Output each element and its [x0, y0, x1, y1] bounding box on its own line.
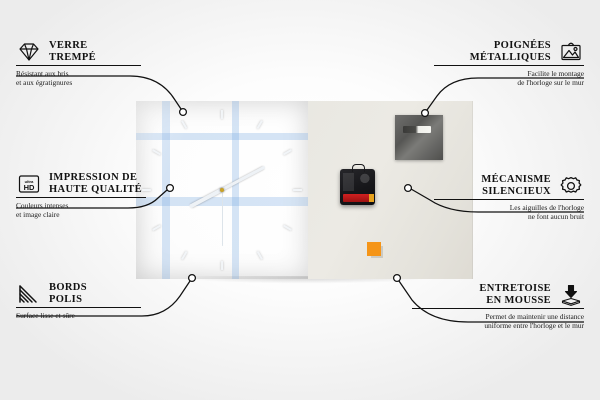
feature-title: BORDS POLIS — [49, 282, 87, 305]
feature-entretoise-en-mousse: ENTRETOISE EN MOUSSE Permet de maintenir… — [412, 283, 584, 330]
ultra-hd-icon: ultra HD — [16, 173, 42, 195]
feature-rule — [16, 65, 141, 66]
feature-subtitle: Permet de maintenir une distance uniform… — [412, 312, 584, 330]
quartz-movement — [340, 169, 375, 205]
diamond-icon — [16, 41, 42, 63]
hour-hand — [189, 188, 222, 208]
product-image — [136, 101, 473, 279]
feature-poignees-metalliques: POIGNÉES MÉTALLIQUES Facilite le montage… — [434, 40, 584, 87]
feature-mecanisme-silencieux: MÉCANISME SILENCIEUX Les aiguilles de l'… — [434, 174, 584, 221]
second-hand — [222, 190, 223, 246]
feature-subtitle: Les aiguilles de l'horloge ne font aucun… — [434, 203, 584, 221]
foam-spacer — [367, 242, 381, 256]
feature-rule — [16, 307, 141, 308]
movement-detail — [343, 173, 371, 191]
battery-terminal — [369, 194, 374, 202]
feature-title: MÉCANISME SILENCIEUX — [481, 174, 551, 197]
feature-verre-trempe: VERRE TREMPÉ Résistant aux bris et aux é… — [16, 40, 156, 87]
polished-edge-icon — [16, 283, 42, 305]
feature-title: POIGNÉES MÉTALLIQUES — [470, 40, 551, 63]
minute-hand — [221, 166, 266, 192]
feature-bords-polis: BORDS POLIS Surface lisse et sûre — [16, 282, 156, 320]
svg-text:HD: HD — [24, 183, 35, 192]
feature-title: VERRE TREMPÉ — [49, 40, 96, 63]
clock-dial — [136, 101, 308, 279]
feature-subtitle: Résistant aux bris et aux égratignures — [16, 69, 156, 87]
hand-pin — [220, 188, 224, 192]
metal-handle-plate — [395, 115, 443, 160]
movement-hook — [352, 164, 365, 172]
feature-rule — [412, 308, 584, 309]
clock-front-panel — [136, 101, 308, 279]
battery — [343, 194, 372, 202]
foam-spacer-icon — [558, 284, 584, 306]
feature-impression-haute-qualite: ultra HD IMPRESSION DE HAUTE QUALITÉ Cou… — [16, 172, 161, 219]
feature-subtitle: Couleurs intenses et image claire — [16, 201, 161, 219]
feature-title: IMPRESSION DE HAUTE QUALITÉ — [49, 172, 142, 195]
feature-rule — [434, 65, 584, 66]
feature-rule — [434, 199, 584, 200]
infographic-canvas: VERRE TREMPÉ Résistant aux bris et aux é… — [0, 0, 600, 400]
feature-subtitle: Facilite le montage de l'horloge sur le … — [434, 69, 584, 87]
handle-slot — [403, 126, 431, 133]
feature-title: ENTRETOISE EN MOUSSE — [479, 283, 551, 306]
gear-icon — [558, 175, 584, 197]
picture-hanger-icon — [558, 41, 584, 63]
feature-rule — [16, 197, 146, 198]
feature-subtitle: Surface lisse et sûre — [16, 311, 156, 320]
